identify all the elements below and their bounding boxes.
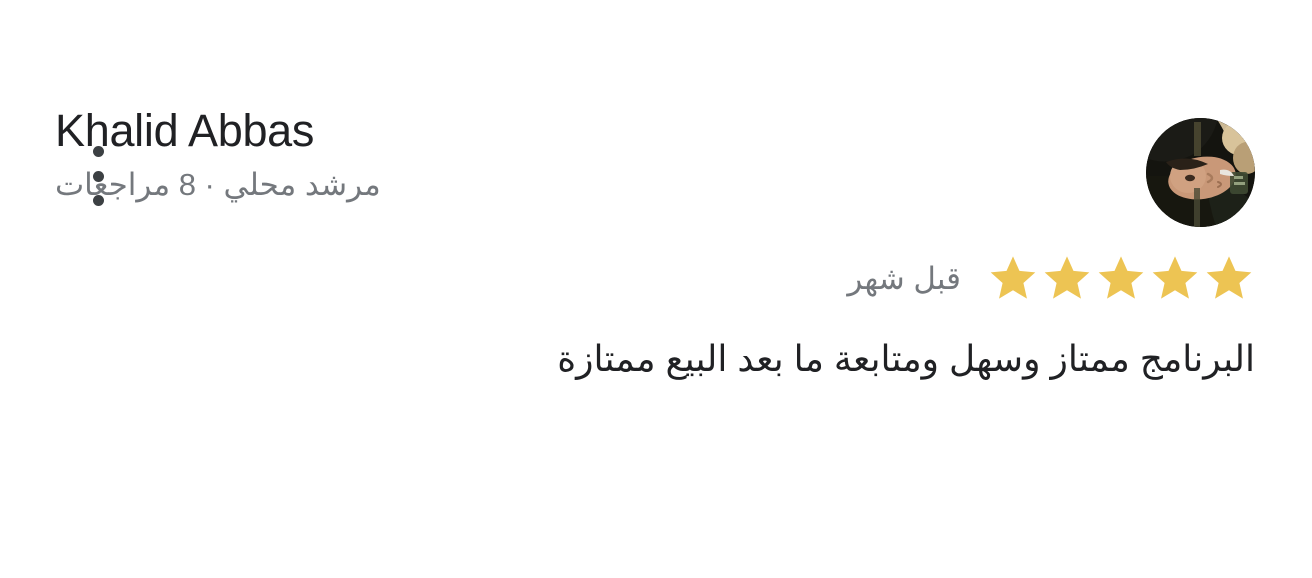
star-filled-icon (1095, 253, 1147, 303)
avatar[interactable] (1146, 118, 1255, 227)
review-text: البرنامج ممتاز وسهل ومتابعة ما بعد البيع… (55, 333, 1255, 385)
rating-row: قبل شهر (55, 253, 1255, 303)
reviewer-meta: مرشد محلي · 8 مراجعات (55, 165, 381, 205)
review-card-screen: Khalid Abbas مرشد محلي · 8 مراجعات (0, 0, 1312, 578)
reviewer-identity: Khalid Abbas مرشد محلي · 8 مراجعات (55, 100, 1124, 205)
star-filled-icon (1203, 253, 1255, 303)
star-filled-icon (987, 253, 1039, 303)
review-content: Khalid Abbas مرشد محلي · 8 مراجعات (55, 100, 1255, 385)
star-filled-icon (1149, 253, 1201, 303)
reviewer-name[interactable]: Khalid Abbas (55, 104, 314, 157)
star-filled-icon (1041, 253, 1093, 303)
star-rating (987, 253, 1255, 303)
review-header: Khalid Abbas مرشد محلي · 8 مراجعات (55, 100, 1255, 227)
review-timestamp: قبل شهر (847, 263, 961, 294)
